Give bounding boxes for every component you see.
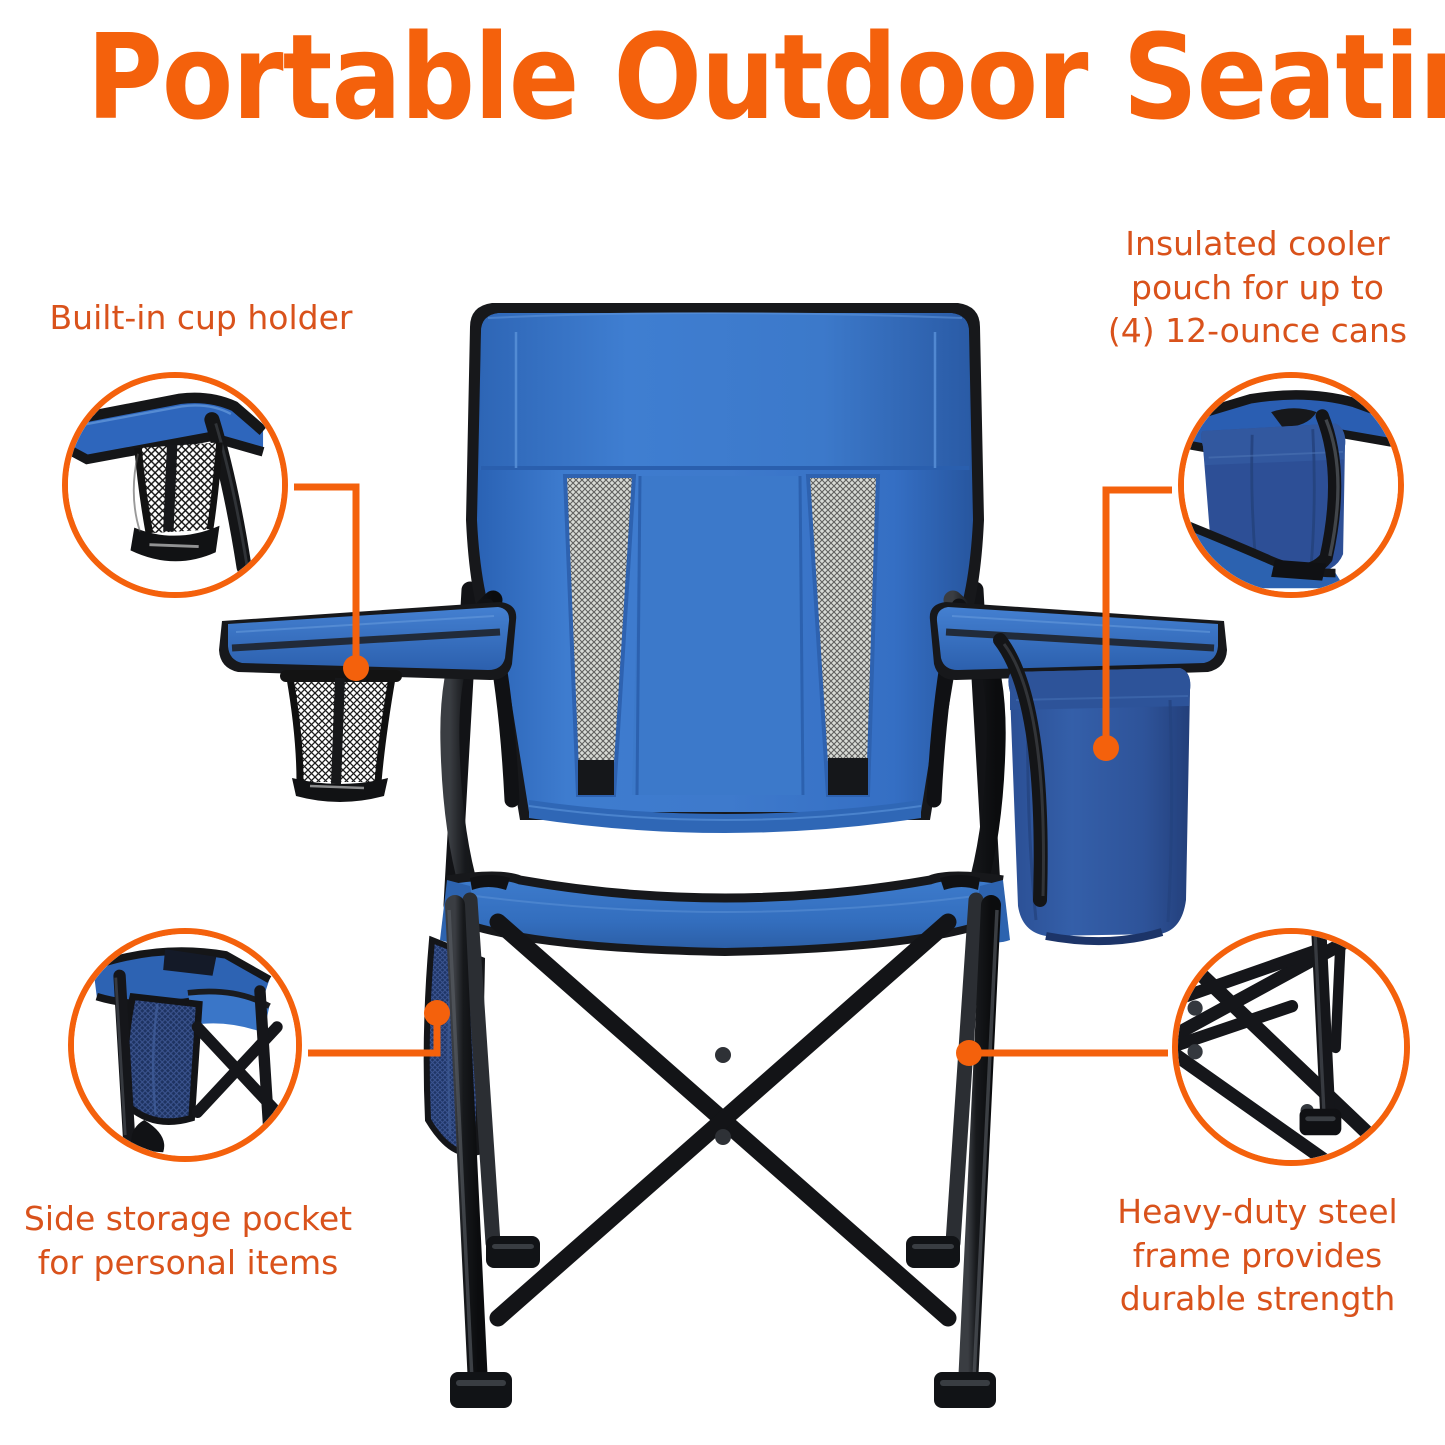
- chair-cooler-pouch: [1000, 640, 1190, 941]
- inset-side-storage-pocket-art: [74, 934, 296, 1156]
- product-image-folding-chair: [219, 303, 1227, 1408]
- inset-side-storage-pocket: [68, 928, 302, 1162]
- marker-dot-cooler: [1093, 735, 1119, 761]
- chair-armrest-right: [930, 602, 1227, 680]
- callout-label-cup-holder: Built-in cup holder: [16, 296, 386, 340]
- chair-backrest: [466, 303, 984, 833]
- chair-feet: [450, 1236, 996, 1408]
- marker-dot-side-pocket: [424, 1000, 450, 1026]
- marker-dot-steel-frame: [956, 1040, 982, 1066]
- callout-label-steel-frame: Heavy-duty steel frame provides durable …: [1085, 1190, 1430, 1321]
- marker-dot-cup-holder: [343, 655, 369, 681]
- chair-cup-holder: [286, 676, 396, 802]
- callout-label-cooler-pouch: Insulated cooler pouch for up to (4) 12-…: [1085, 222, 1430, 353]
- inset-cup-holder: [62, 372, 288, 598]
- inset-steel-frame-art: [1178, 934, 1404, 1160]
- inset-cooler-pouch: [1178, 372, 1404, 598]
- inset-steel-frame: [1172, 928, 1410, 1166]
- leader-line-side-pocket: [308, 1013, 437, 1053]
- chair-steel-frame-legs: [449, 900, 997, 1408]
- inset-cooler-pouch-art: [1184, 378, 1398, 592]
- inset-cup-holder-art: [68, 378, 282, 592]
- callout-label-side-pocket: Side storage pocket for personal items: [8, 1197, 368, 1284]
